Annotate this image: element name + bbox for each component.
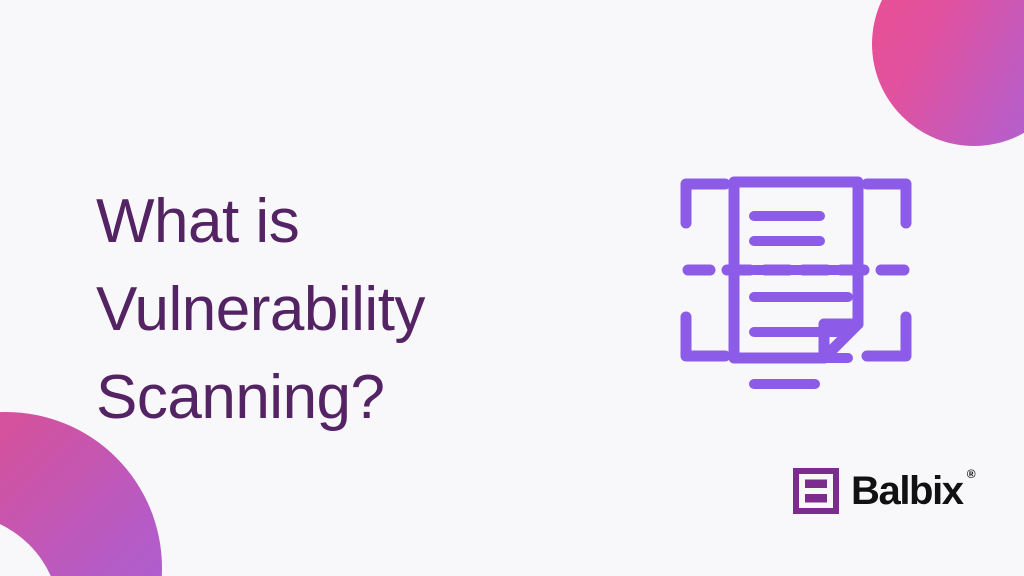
balbix-logo-mark xyxy=(793,468,839,514)
balbix-wordmark-text: Balbix xyxy=(851,469,963,513)
balbix-logo: Balbix® xyxy=(793,468,963,514)
document-scan-icon xyxy=(672,146,920,394)
registered-trademark-icon: ® xyxy=(967,468,976,480)
balbix-wordmark: Balbix® xyxy=(851,471,963,511)
page-title: What is Vulnerability Scanning? xyxy=(96,178,566,442)
top-right-gradient-circle xyxy=(872,0,1024,146)
slide-canvas: What is Vulnerability Scanning? xyxy=(0,0,1024,576)
